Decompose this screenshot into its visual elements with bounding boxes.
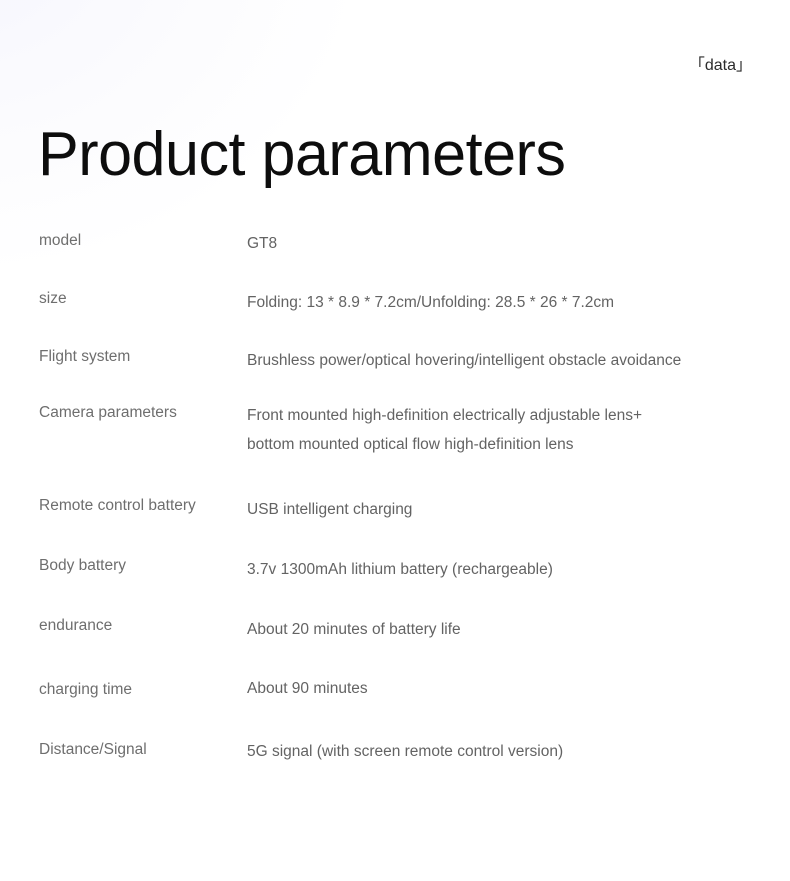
spec-value-line: Brushless power/optical hovering/intelli… xyxy=(247,346,767,375)
spec-value-line: Folding: 13 * 8.9 * 7.2cm/Unfolding: 28.… xyxy=(247,288,767,317)
spec-value: Folding: 13 * 8.9 * 7.2cm/Unfolding: 28.… xyxy=(247,288,767,317)
spec-label: Remote control battery xyxy=(39,495,239,517)
spec-value-line: About 20 minutes of battery life xyxy=(247,615,767,644)
spec-label: Flight system xyxy=(39,346,239,368)
product-parameters-page: 「data」 Product parameters model GT8 size… xyxy=(0,0,790,881)
spec-value: GT8 xyxy=(247,229,767,258)
spec-value: About 20 minutes of battery life xyxy=(247,615,767,644)
data-tag-label: 「data」 xyxy=(689,56,752,76)
spec-label: model xyxy=(39,230,239,252)
spec-label: Body battery xyxy=(39,555,239,577)
spec-value: USB intelligent charging xyxy=(247,495,767,524)
spec-label: Distance/Signal xyxy=(39,739,239,761)
spec-label: endurance xyxy=(39,615,239,637)
spec-value-line: GT8 xyxy=(247,229,767,258)
spec-value-line: About 90 minutes xyxy=(247,674,767,703)
spec-value: 3.7v 1300mAh lithium battery (rechargeab… xyxy=(247,555,767,584)
spec-value-line: Front mounted high-definition electrical… xyxy=(247,401,767,430)
spec-value: 5G signal (with screen remote control ve… xyxy=(247,737,767,766)
spec-value: About 90 minutes xyxy=(247,674,767,703)
spec-label: Camera parameters xyxy=(39,402,239,424)
spec-value: Brushless power/optical hovering/intelli… xyxy=(247,346,767,375)
spec-label: charging time xyxy=(39,679,239,701)
spec-label: size xyxy=(39,288,239,310)
spec-value-line: 5G signal (with screen remote control ve… xyxy=(247,737,767,766)
page-header: 「data」 Product parameters xyxy=(0,0,790,180)
spec-value-line: 3.7v 1300mAh lithium battery (rechargeab… xyxy=(247,555,767,584)
spec-value-line: USB intelligent charging xyxy=(247,495,767,524)
page-title: Product parameters xyxy=(38,118,565,192)
spec-value: Front mounted high-definition electrical… xyxy=(247,401,767,459)
spec-value-line: bottom mounted optical flow high-definit… xyxy=(247,430,767,459)
